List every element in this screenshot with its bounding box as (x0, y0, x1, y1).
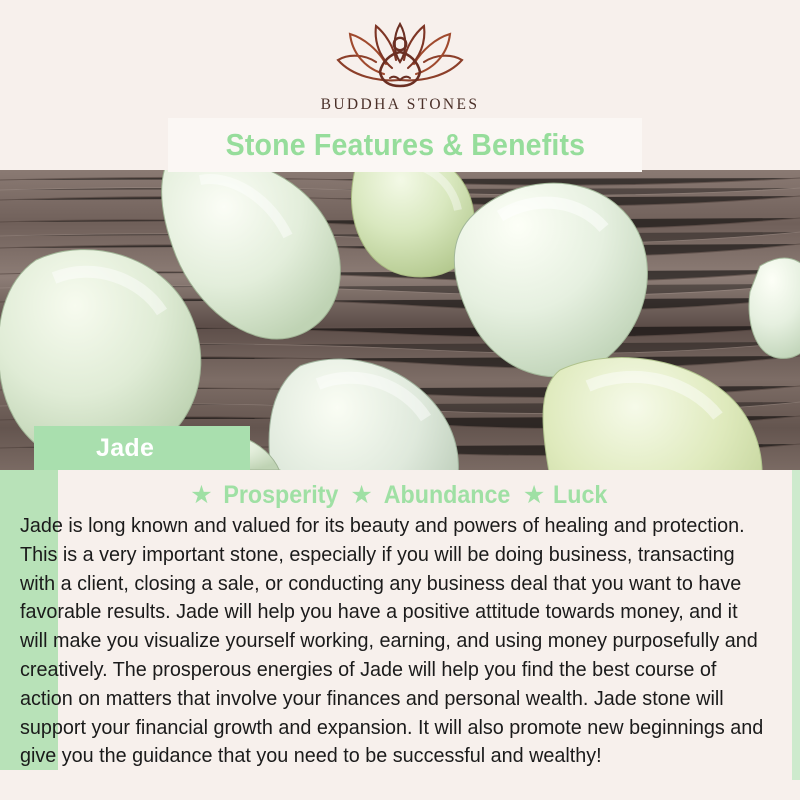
decor-green-right-lower (792, 470, 800, 780)
stone-description: Jade is long known and valued for its be… (20, 512, 792, 771)
brand-logo: BUDDHA STONES (0, 18, 800, 114)
brand-name: BUDDHA STONES (321, 96, 480, 114)
stone-photo (0, 170, 800, 470)
keyword-label: Luck (553, 481, 607, 510)
star-icon: ★ (190, 483, 212, 508)
stone-photo-illustration (0, 170, 800, 470)
keyword-abundance: ★ Abundance (350, 481, 515, 510)
keyword-prosperity: ★ Prosperity (190, 481, 342, 510)
star-icon: ★ (350, 483, 372, 508)
star-icon: ★ (523, 483, 545, 508)
lotus-meditation-icon (324, 18, 476, 92)
page-title: Stone Features & Benefits (225, 127, 585, 163)
decor-bottom-strip (0, 770, 58, 800)
stone-name-text: Jade (96, 434, 154, 463)
stone-name-label: Jade (34, 426, 250, 470)
keyword-label: Abundance (384, 481, 511, 510)
keyword-label: Prosperity (223, 481, 338, 510)
stone-description-paragraph: Jade is long known and valued for its be… (20, 512, 769, 771)
benefit-keywords: ★ Prosperity ★ Abundance ★ Luck (0, 478, 800, 512)
section-title-banner: Stone Features & Benefits (168, 118, 642, 172)
stone-benefits-poster: BUDDHA STONES Stone Features & Benefits (0, 0, 800, 800)
keyword-luck: ★ Luck (523, 481, 610, 510)
